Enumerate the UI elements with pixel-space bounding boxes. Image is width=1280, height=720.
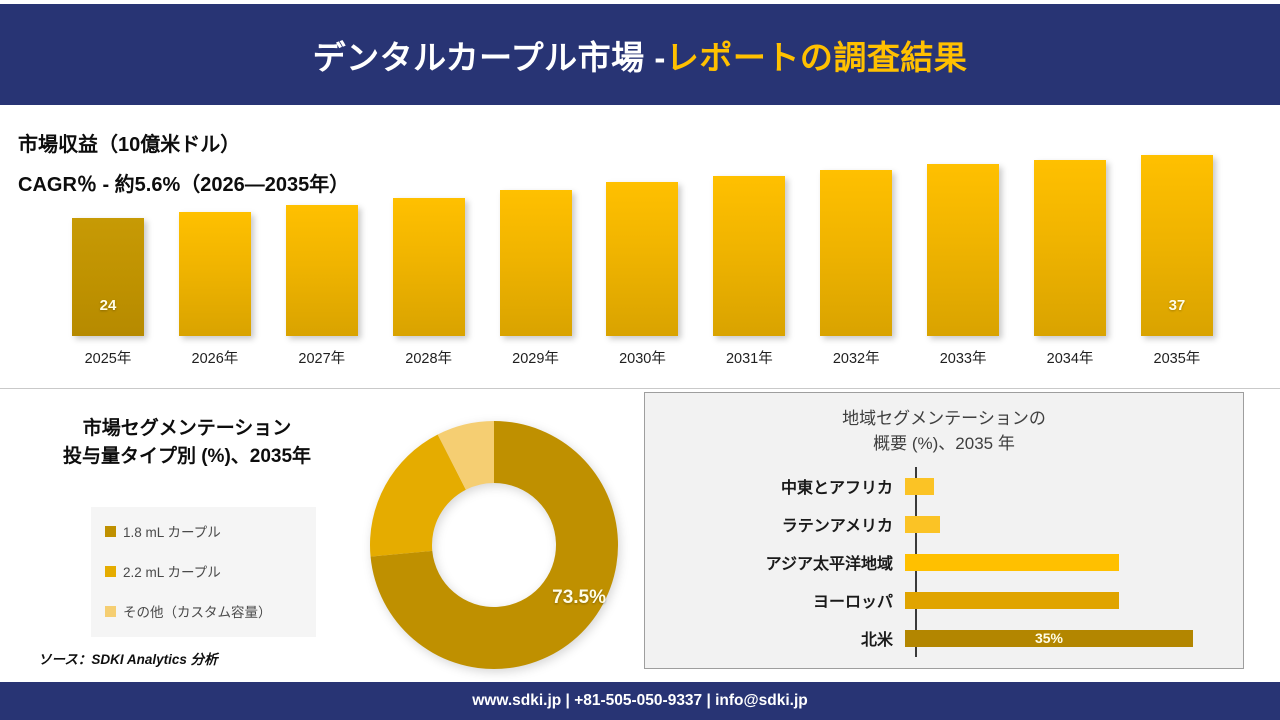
revenue-bar-column: 2026年 <box>162 212 268 336</box>
page-title-accent: レポートの調査結果 <box>666 39 968 76</box>
revenue-bar-column: 242025年 <box>55 218 161 336</box>
revenue-bar-column: 2028年 <box>376 198 482 336</box>
region-title-line2: 概要 (%)、2035 年 <box>645 432 1243 457</box>
revenue-bar-label: 2025年 <box>85 347 132 368</box>
revenue-bar-label: 2033年 <box>940 347 987 368</box>
legend-swatch-icon <box>105 606 116 617</box>
footer-bar: www.sdki.jp | +81-505-050-9337 | info@sd… <box>0 682 1280 720</box>
region-bar-value: 35% <box>905 630 1193 647</box>
donut-chart-svg <box>368 419 620 671</box>
legend-item: その他（カスタム容量） <box>105 601 306 621</box>
revenue-bar-column: 2033年 <box>910 164 1016 336</box>
region-bar-label: 中東とアフリカ <box>715 474 905 498</box>
revenue-bar-label: 2032年 <box>833 347 880 368</box>
revenue-bar <box>927 164 999 336</box>
region-bar-row: ラテンアメリカ <box>715 505 1215 543</box>
region-bar-holder <box>905 467 1215 505</box>
region-title-line1: 地域セグメンテーションの <box>645 407 1243 432</box>
region-chart: 中東とアフリカラテンアメリカアジア太平洋地域ヨーロッパ北米35% <box>715 467 1215 657</box>
legend-label: その他（カスタム容量） <box>123 601 272 621</box>
revenue-bar-column: 2032年 <box>803 170 909 336</box>
legend-label: 2.2 mL カープル <box>123 561 221 581</box>
region-title: 地域セグメンテーションの 概要 (%)、2035 年 <box>645 407 1243 456</box>
revenue-captions: 市場収益（10億米ドル） CAGR％ - 約5.6%（2026―2035年） <box>18 135 349 215</box>
revenue-bar: 37 <box>1141 155 1213 336</box>
region-bar-label: アジア太平洋地域 <box>715 550 905 574</box>
revenue-bar-column: 2031年 <box>696 176 802 336</box>
revenue-bar-column: 2030年 <box>589 182 695 336</box>
revenue-bar-label: 2030年 <box>619 347 666 368</box>
region-bar <box>905 478 934 495</box>
region-bar <box>905 554 1119 571</box>
header-banner: デンタルカープル市場 -レポートの調査結果 <box>0 4 1280 105</box>
revenue-bar-label: 2026年 <box>192 347 239 368</box>
revenue-bar-column: 2034年 <box>1017 160 1123 336</box>
region-bar-row: ヨーロッパ <box>715 581 1215 619</box>
region-bar <box>905 592 1119 609</box>
legend-swatch-icon <box>105 566 116 577</box>
donut-chart: 73.5% <box>368 419 620 671</box>
region-bar-row: アジア太平洋地域 <box>715 543 1215 581</box>
revenue-bar-column: 2029年 <box>483 190 589 336</box>
footer-contact: www.sdki.jp | +81-505-050-9337 | info@sd… <box>472 692 808 710</box>
region-bar-holder: 35% <box>905 619 1215 657</box>
source-note: ソース：SDKI Analytics 分析 <box>38 648 218 668</box>
revenue-bar-label: 2031年 <box>726 347 773 368</box>
revenue-bar: 24 <box>72 218 144 336</box>
region-bar-row: 北米35% <box>715 619 1215 657</box>
revenue-bar-label: 2034年 <box>1047 347 1094 368</box>
bottom-panels: 市場セグメンテーション 投与量タイプ別 (%)、2035年 1.8 mL カープ… <box>0 389 1280 682</box>
region-bar-label: ヨーロッパ <box>715 588 905 612</box>
revenue-caption-market: 市場収益（10億米ドル） <box>18 135 349 155</box>
revenue-bar <box>286 205 358 336</box>
segmentation-title-line1: 市場セグメンテーション <box>22 415 352 443</box>
revenue-bar-label: 2028年 <box>405 347 452 368</box>
revenue-bar <box>820 170 892 336</box>
revenue-bar <box>1034 160 1106 336</box>
revenue-bar <box>393 198 465 336</box>
revenue-bar-label: 2035年 <box>1154 347 1201 368</box>
revenue-bar <box>179 212 251 336</box>
region-bar-label: 北米 <box>715 626 905 650</box>
segmentation-title-line2: 投与量タイプ別 (%)、2035年 <box>22 443 352 471</box>
revenue-bar-label: 2027年 <box>298 347 345 368</box>
page-title-main: デンタルカープル市場 - <box>313 39 666 76</box>
revenue-caption-cagr: CAGR％ - 約5.6%（2026―2035年） <box>18 175 349 195</box>
segmentation-panel: 市場セグメンテーション 投与量タイプ別 (%)、2035年 1.8 mL カープ… <box>0 389 636 682</box>
revenue-bar-label: 2029年 <box>512 347 559 368</box>
legend-label: 1.8 mL カープル <box>123 521 221 541</box>
legend-swatch-icon <box>105 526 116 537</box>
revenue-bar <box>500 190 572 336</box>
revenue-bar-column: 372035年 <box>1124 155 1230 336</box>
region-bar: 35% <box>905 630 1193 647</box>
revenue-bar <box>713 176 785 336</box>
region-panel: 地域セグメンテーションの 概要 (%)、2035 年 中東とアフリカラテンアメリ… <box>644 392 1244 669</box>
region-bar <box>905 516 940 533</box>
region-bar-holder <box>905 581 1215 619</box>
region-bar-row: 中東とアフリカ <box>715 467 1215 505</box>
segmentation-title: 市場セグメンテーション 投与量タイプ別 (%)、2035年 <box>22 415 352 470</box>
revenue-bar-column: 2027年 <box>269 205 375 336</box>
segmentation-legend: 1.8 mL カープル2.2 mL カープルその他（カスタム容量） <box>91 507 316 637</box>
revenue-bar <box>606 182 678 336</box>
revenue-bar-value: 37 <box>1141 297 1213 314</box>
region-bar-holder <box>905 505 1215 543</box>
legend-item: 2.2 mL カープル <box>105 561 306 581</box>
legend-item: 1.8 mL カープル <box>105 521 306 541</box>
page-title: デンタルカープル市場 -レポートの調査結果 <box>313 31 968 79</box>
revenue-chart-section: 市場収益（10億米ドル） CAGR％ - 約5.6%（2026―2035年） 2… <box>0 105 1280 389</box>
revenue-bar-value: 24 <box>72 297 144 314</box>
donut-primary-value: 73.5% <box>552 587 606 609</box>
region-bar-holder <box>905 543 1215 581</box>
region-bar-label: ラテンアメリカ <box>715 512 905 536</box>
